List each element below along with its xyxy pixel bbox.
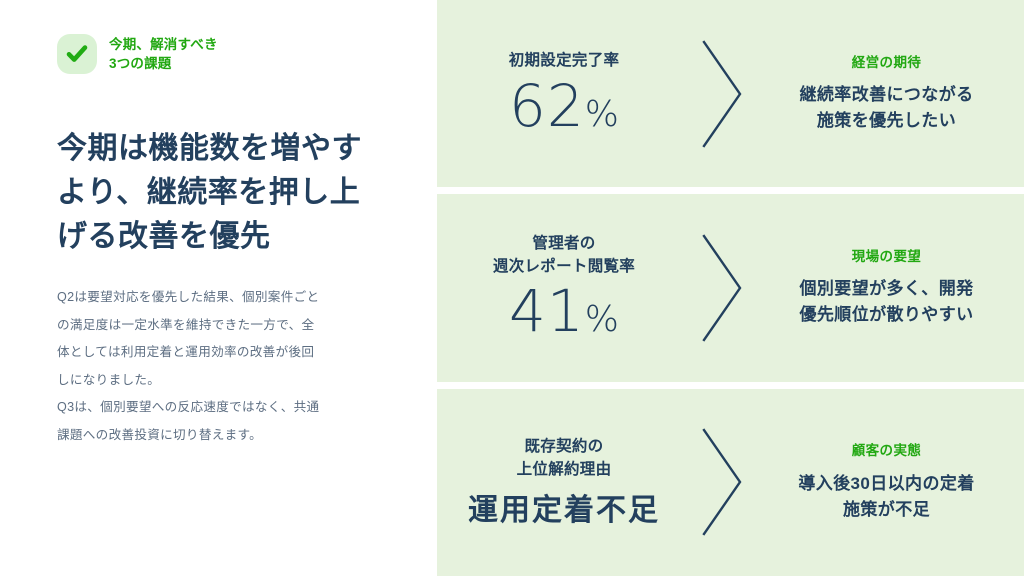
metric-label: 初期設定完了率 <box>443 50 685 72</box>
insight-card: 既存契約の 上位解約理由 運用定着不足 顧客の実態 導入後30日以内の定着 施策… <box>437 389 1024 576</box>
metric-unit: % <box>585 94 619 135</box>
chevron-right-icon <box>685 232 759 344</box>
metric-label: 既存契約の 上位解約理由 <box>443 436 685 481</box>
metric-number: 運用定着不足 <box>468 494 660 527</box>
metric-block: 管理者の 週次レポート閲覧率 41% <box>437 233 685 343</box>
cards-panel: 初期設定完了率 62% 経営の期待 継続率改善につながる 施策を優先したい 管理… <box>437 0 1024 576</box>
eyebrow-text: 今期、解消すべき 3つの課題 <box>109 35 218 73</box>
body-paragraph: Q2は要望対応を優先した結果、個別案件ごと の満足度は一定水準を維持できた一方で… <box>57 284 397 449</box>
outcome-label: 顧客の実態 <box>765 442 1008 460</box>
insight-card: 管理者の 週次レポート閲覧率 41% 現場の要望 個別要望が多く、開発 優先順位… <box>437 194 1024 381</box>
eyebrow-row: 今期、解消すべき 3つの課題 <box>57 34 397 74</box>
outcome-block: 現場の要望 個別要望が多く、開発 優先順位が散りやすい <box>759 248 1024 328</box>
metric-block: 初期設定完了率 62% <box>437 50 685 137</box>
outcome-text: 導入後30日以内の定着 施策が不足 <box>765 471 1008 523</box>
outcome-text: 個別要望が多く、開発 優先順位が散りやすい <box>765 276 1008 328</box>
left-column: 今期、解消すべき 3つの課題 今期は機能数を増やす より、継続率を押し上 げる改… <box>0 0 437 576</box>
outcome-label: 現場の要望 <box>765 248 1008 266</box>
slide-root: 今期、解消すべき 3つの課題 今期は機能数を増やす より、継続率を押し上 げる改… <box>0 0 1024 576</box>
chevron-right-icon <box>685 38 759 150</box>
outcome-label: 経営の期待 <box>765 54 1008 72</box>
metric-unit: % <box>585 299 619 340</box>
metric-label: 管理者の 週次レポート閲覧率 <box>443 233 685 278</box>
metric-value: 62% <box>443 75 685 138</box>
metric-number: 41 <box>509 277 585 345</box>
metric-block: 既存契約の 上位解約理由 運用定着不足 <box>437 436 685 528</box>
outcome-block: 経営の期待 継続率改善につながる 施策を優先したい <box>759 54 1024 134</box>
insight-card: 初期設定完了率 62% 経営の期待 継続率改善につながる 施策を優先したい <box>437 0 1024 187</box>
chevron-right-icon <box>685 426 759 538</box>
metric-value: 41% <box>443 280 685 343</box>
page-title: 今期は機能数を増やす より、継続率を押し上 げる改善を優先 <box>57 127 397 258</box>
outcome-block: 顧客の実態 導入後30日以内の定着 施策が不足 <box>759 442 1024 522</box>
check-badge <box>57 34 97 74</box>
metric-value: 運用定着不足 <box>443 489 685 528</box>
outcome-text: 継続率改善につながる 施策を優先したい <box>765 82 1008 134</box>
check-icon <box>64 41 90 67</box>
metric-number: 62 <box>509 72 585 140</box>
